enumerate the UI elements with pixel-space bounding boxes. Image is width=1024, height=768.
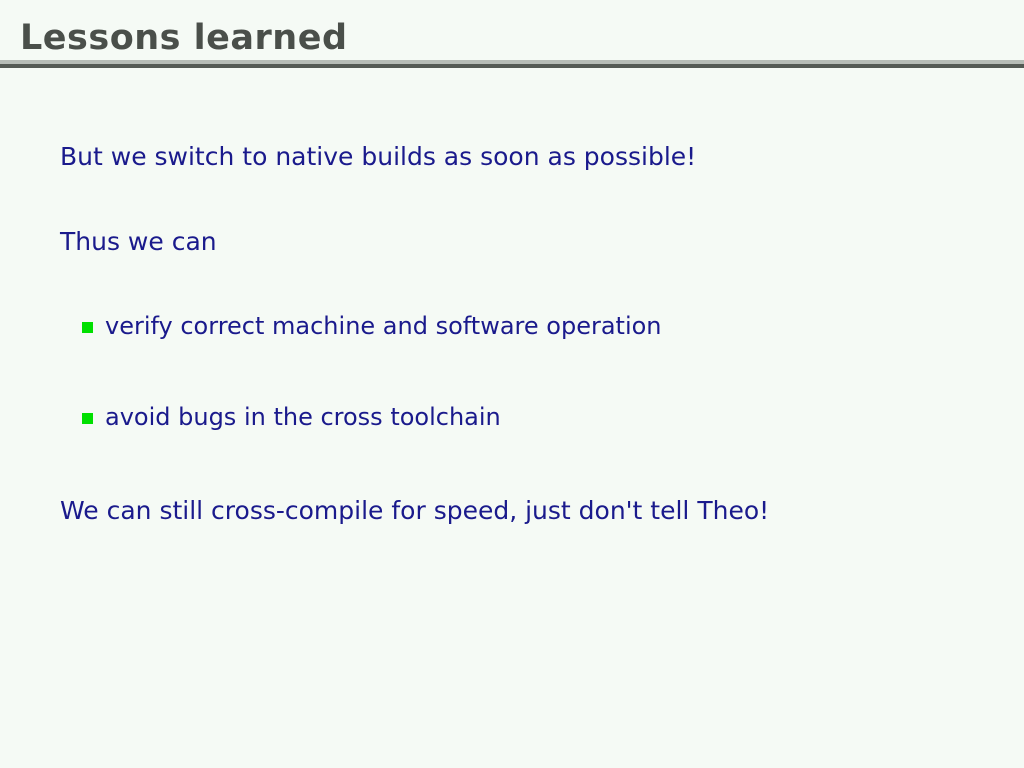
- square-bullet-icon: [82, 322, 93, 333]
- square-bullet-icon: [82, 413, 93, 424]
- list-item: verify correct machine and software oper…: [60, 311, 662, 341]
- body-paragraph-3: We can still cross-compile for speed, ju…: [60, 496, 769, 526]
- page-title: Lessons learned: [20, 16, 348, 60]
- list-item-label: avoid bugs in the cross toolchain: [105, 402, 501, 432]
- body-paragraph-2: Thus we can: [60, 227, 217, 257]
- list-item: avoid bugs in the cross toolchain: [60, 402, 501, 432]
- divider-shadow-line: [0, 64, 1024, 68]
- list-item-label: verify correct machine and software oper…: [105, 311, 662, 341]
- presentation-slide: Lessons learned But we switch to native …: [0, 0, 1024, 768]
- body-paragraph-1: But we switch to native builds as soon a…: [60, 142, 696, 172]
- title-divider: [0, 60, 1024, 68]
